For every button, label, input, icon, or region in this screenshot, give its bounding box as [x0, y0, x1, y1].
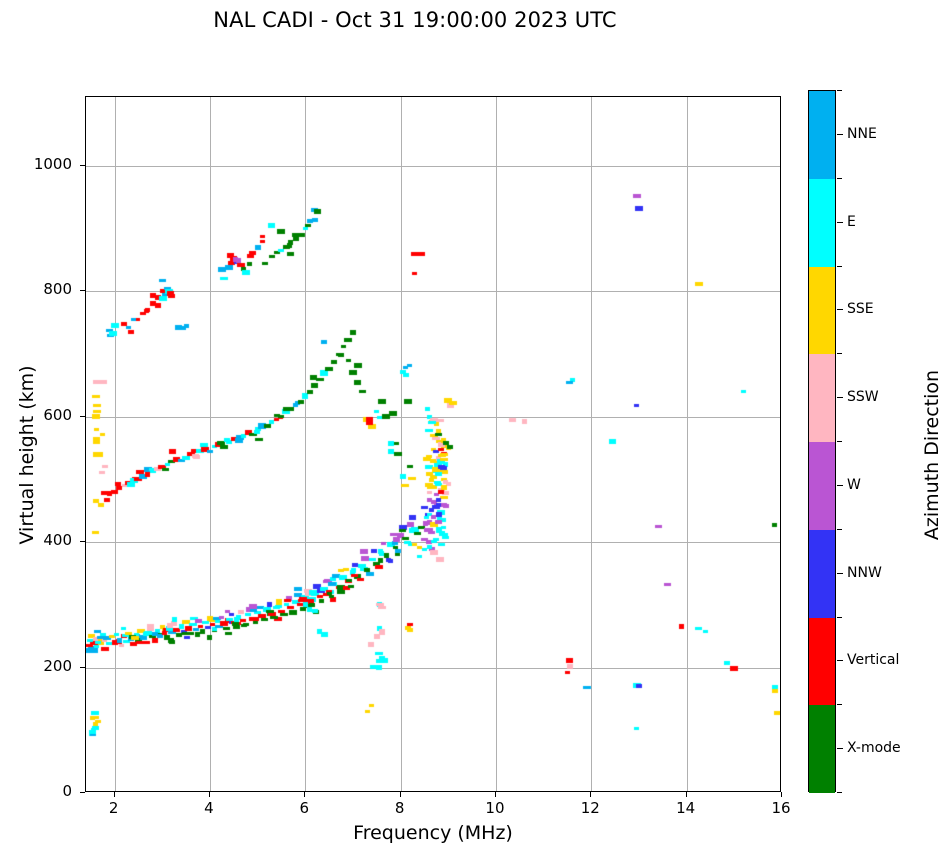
x-tick-label: 6: [274, 799, 334, 817]
y-axis-title: Virtual height (km): [16, 107, 38, 803]
x-tick-label: 14: [656, 799, 716, 817]
x-tick-label: 4: [179, 799, 239, 817]
colorbar-label-nne: NNE: [847, 126, 877, 142]
colorbar-separator-tick: [837, 704, 842, 705]
colorbar-tick: [837, 573, 843, 574]
colorbar-separator-tick: [837, 617, 842, 618]
ionogram-plot-area: [85, 96, 781, 792]
colorbar-band-nne: [809, 91, 835, 179]
y-tick: [80, 290, 85, 291]
colorbar-tick: [837, 134, 843, 135]
colorbar-separator-tick: [837, 441, 842, 442]
colorbar-tick: [837, 748, 843, 749]
colorbar-label-nnw: NNW: [847, 565, 882, 581]
x-tick-label: 16: [751, 799, 811, 817]
y-tick-label: 400: [12, 531, 72, 549]
colorbar-label-vertical: Vertical: [847, 652, 899, 668]
colorbar-band-sse: [809, 267, 835, 355]
x-tick-label: 10: [465, 799, 525, 817]
colorbar-band-w: [809, 442, 835, 530]
colorbar-tick: [837, 309, 843, 310]
x-tick: [304, 792, 305, 797]
colorbar-tick: [837, 222, 843, 223]
x-tick-label: 12: [560, 799, 620, 817]
x-tick: [686, 792, 687, 797]
echo-canvas: [86, 97, 780, 791]
colorbar-band-x-mode: [809, 705, 835, 793]
colorbar-separator-tick: [837, 353, 842, 354]
azimuth-colorbar: [808, 90, 836, 792]
colorbar-title: Azimuth Direction: [921, 107, 943, 803]
y-tick-label: 800: [12, 280, 72, 298]
colorbar-label-x-mode: X-mode: [847, 740, 901, 756]
x-tick: [495, 792, 496, 797]
colorbar-band-vertical: [809, 618, 835, 706]
y-tick: [80, 792, 85, 793]
colorbar-separator-tick: [837, 90, 842, 91]
colorbar-band-ssw: [809, 354, 835, 442]
colorbar-label-ssw: SSW: [847, 389, 879, 405]
x-tick: [590, 792, 591, 797]
x-tick-label: 2: [84, 799, 144, 817]
y-tick: [80, 667, 85, 668]
colorbar-band-e: [809, 179, 835, 267]
x-tick: [114, 792, 115, 797]
colorbar-label-e: E: [847, 214, 856, 230]
colorbar-separator-tick: [837, 178, 842, 179]
colorbar-tick: [837, 397, 843, 398]
colorbar-tick: [837, 485, 843, 486]
y-tick: [80, 165, 85, 166]
y-tick-label: 1000: [12, 155, 72, 173]
y-tick: [80, 416, 85, 417]
y-tick-label: 200: [12, 657, 72, 675]
colorbar-separator-tick: [837, 529, 842, 530]
y-tick-label: 600: [12, 406, 72, 424]
x-tick-label: 8: [370, 799, 430, 817]
x-tick: [400, 792, 401, 797]
colorbar-band-nnw: [809, 530, 835, 618]
y-tick-label: 0: [12, 782, 72, 800]
colorbar-tick: [837, 660, 843, 661]
colorbar-separator-tick: [837, 266, 842, 267]
echo-scatter-layer: [86, 97, 780, 791]
colorbar-label-w: W: [847, 477, 861, 493]
x-tick: [209, 792, 210, 797]
y-tick: [80, 541, 85, 542]
x-tick: [781, 792, 782, 797]
page-title: NAL CADI - Oct 31 19:00:00 2023 UTC: [0, 8, 830, 32]
colorbar-label-sse: SSE: [847, 301, 874, 317]
x-axis-title: Frequency (MHz): [85, 822, 781, 844]
colorbar-separator-tick: [837, 792, 842, 793]
